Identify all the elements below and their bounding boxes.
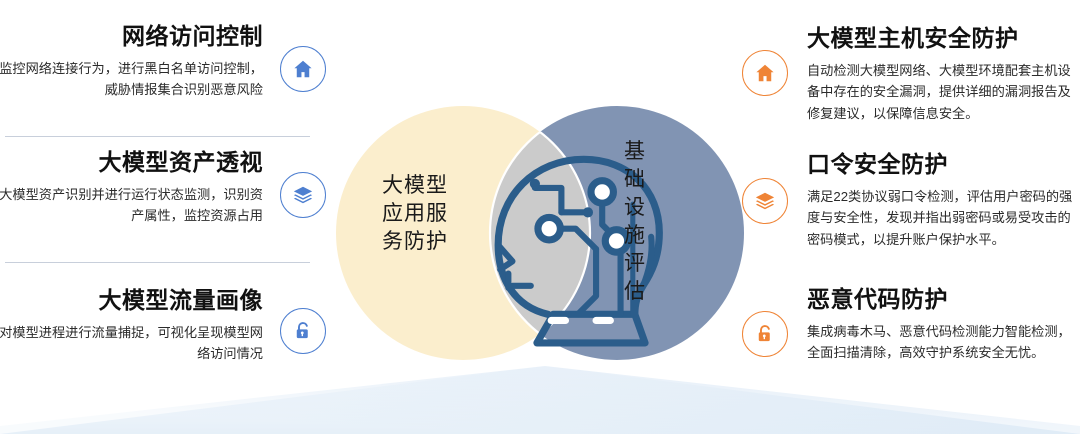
layers-icon: [754, 190, 776, 212]
feature-card-password-security[interactable]: 口令安全防护 满足22类协议弱口令检测，评估用户密码的强度与安全性，发现并指出弱…: [735, 150, 1075, 250]
feature-title: 网络访问控制: [0, 22, 263, 51]
venn-label-right: 基础设施评估: [614, 138, 656, 306]
feature-description: 大模型资产识别并进行运行状态监测，识别资产属性，监控资源占用: [0, 184, 263, 227]
feature-text: 大模型流量画像 对模型进程进行流量捕捉，可视化呈现模型网络访问情况: [0, 286, 273, 365]
icon-badge[interactable]: [280, 172, 326, 218]
unlock-icon: [754, 323, 776, 345]
feature-icon-wrap: [735, 24, 795, 96]
divider-left-2: [5, 262, 310, 263]
feature-title: 恶意代码防护: [807, 285, 1075, 314]
divider-left-1: [5, 136, 310, 137]
feature-text: 大模型资产透视 大模型资产识别并进行运行状态监测，识别资产属性，监控资源占用: [0, 148, 273, 227]
feature-title: 大模型资产透视: [0, 148, 263, 177]
feature-text: 口令安全防护 满足22类协议弱口令检测，评估用户密码的强度与安全性，发现并指出弱…: [795, 150, 1075, 250]
feature-card-malicious-code-protection[interactable]: 恶意代码防护 集成病毒木马、恶意代码检测能力智能检测，全面扫描清除，高效守护系统…: [735, 285, 1075, 364]
feature-card-network-access-control[interactable]: 网络访问控制 监控网络连接行为，进行黑白名单访问控制，威胁情报集合识别恶意风险: [0, 22, 333, 101]
feature-icon-wrap: [273, 286, 333, 354]
right-feature-column: 大模型主机安全防护 自动检测大模型网络、大模型环境配套主机设备中存在的安全漏洞，…: [740, 0, 1080, 434]
infographic-canvas: 大模型应用服务防护 基础设施评估 网络访问控制 监控网络连接行为，进行黑白名单访…: [0, 0, 1080, 434]
feature-text: 大模型主机安全防护 自动检测大模型网络、大模型环境配套主机设备中存在的安全漏洞，…: [795, 24, 1075, 124]
feature-text: 恶意代码防护 集成病毒木马、恶意代码检测能力智能检测，全面扫描清除，高效守护系统…: [795, 285, 1075, 364]
icon-badge[interactable]: [742, 50, 788, 96]
left-feature-column: 网络访问控制 监控网络连接行为，进行黑白名单访问控制，威胁情报集合识别恶意风险 …: [0, 0, 340, 434]
feature-text: 网络访问控制 监控网络连接行为，进行黑白名单访问控制，威胁情报集合识别恶意风险: [0, 22, 273, 101]
feature-description: 满足22类协议弱口令检测，评估用户密码的强度与安全性，发现并指出弱密码或易受攻击…: [807, 186, 1075, 250]
icon-badge[interactable]: [742, 311, 788, 357]
feature-icon-wrap: [735, 150, 795, 224]
feature-title: 大模型流量画像: [0, 286, 263, 315]
feature-description: 监控网络连接行为，进行黑白名单访问控制，威胁情报集合识别恶意风险: [0, 58, 263, 101]
feature-icon-wrap: [273, 22, 333, 92]
feature-card-host-security-protection[interactable]: 大模型主机安全防护 自动检测大模型网络、大模型环境配套主机设备中存在的安全漏洞，…: [735, 24, 1075, 124]
feature-card-model-traffic-profile[interactable]: 大模型流量画像 对模型进程进行流量捕捉，可视化呈现模型网络访问情况: [0, 286, 333, 365]
home-icon: [292, 58, 314, 80]
icon-badge[interactable]: [742, 178, 788, 224]
feature-description: 对模型进程进行流量捕捉，可视化呈现模型网络访问情况: [0, 322, 263, 365]
icon-badge[interactable]: [280, 308, 326, 354]
feature-title: 口令安全防护: [807, 150, 1075, 179]
feature-icon-wrap: [735, 285, 795, 357]
feature-title: 大模型主机安全防护: [807, 24, 1075, 53]
icon-badge[interactable]: [280, 46, 326, 92]
feature-card-model-asset-visibility[interactable]: 大模型资产透视 大模型资产识别并进行运行状态监测，识别资产属性，监控资源占用: [0, 148, 333, 227]
feature-description: 自动检测大模型网络、大模型环境配套主机设备中存在的安全漏洞，提供详细的漏洞报告及…: [807, 60, 1075, 124]
feature-description: 集成病毒木马、恶意代码检测能力智能检测，全面扫描清除，高效守护系统安全无忧。: [807, 321, 1075, 364]
layers-icon: [292, 184, 314, 206]
unlock-icon: [292, 320, 314, 342]
venn-label-left: 大模型应用服务防护: [376, 172, 454, 256]
home-icon: [754, 62, 776, 84]
feature-icon-wrap: [273, 148, 333, 218]
